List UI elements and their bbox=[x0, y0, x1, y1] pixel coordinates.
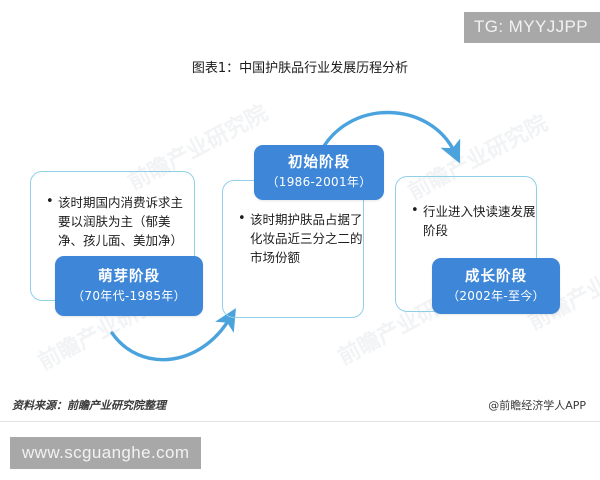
stage-description-3: 行业进入快读速发展阶段 bbox=[409, 202, 537, 240]
stage-label-1[interactable]: 萌芽阶段 （70年代-1985年） bbox=[55, 256, 203, 316]
stage-period-3: （2002年-至今） bbox=[447, 287, 545, 306]
stage-name-2: 初始阶段 bbox=[288, 153, 350, 173]
stage-label-3[interactable]: 成长阶段 （2002年-至今） bbox=[432, 258, 560, 314]
stage-description-1: 该时期国内消费诉求主要以润肤为主（郁美净、孩儿面、美加净） bbox=[44, 193, 186, 250]
stage-name-3: 成长阶段 bbox=[465, 267, 527, 287]
footer-divider bbox=[0, 421, 600, 422]
telegram-watermark-badge: TG: MYYJJPP bbox=[464, 12, 600, 43]
arrow-stage1-to-stage2 bbox=[112, 318, 230, 360]
site-watermark-badge: www.scguanghe.com bbox=[10, 437, 201, 469]
stage-name-1: 萌芽阶段 bbox=[98, 267, 160, 287]
stage-period-1: （70年代-1985年） bbox=[72, 287, 186, 306]
page-title: 图表1：中国护肤品行业发展历程分析 bbox=[0, 60, 600, 78]
stage-label-2[interactable]: 初始阶段 （1986-2001年） bbox=[254, 145, 384, 200]
app-attribution: @前瞻经济学人APP bbox=[488, 398, 586, 413]
stage-period-2: （1986-2001年） bbox=[266, 173, 371, 192]
flow-diagram: 前瞻产业研究院 前瞻产业研究院 前瞻产业研究院 前瞻产业研究院 前瞻产业研究院 … bbox=[0, 90, 600, 390]
source-note: 资料来源：前瞻产业研究院整理 bbox=[12, 398, 166, 413]
stage-description-2: 该时期护肤品占据了化妆品近三分之二的市场份额 bbox=[236, 210, 364, 267]
